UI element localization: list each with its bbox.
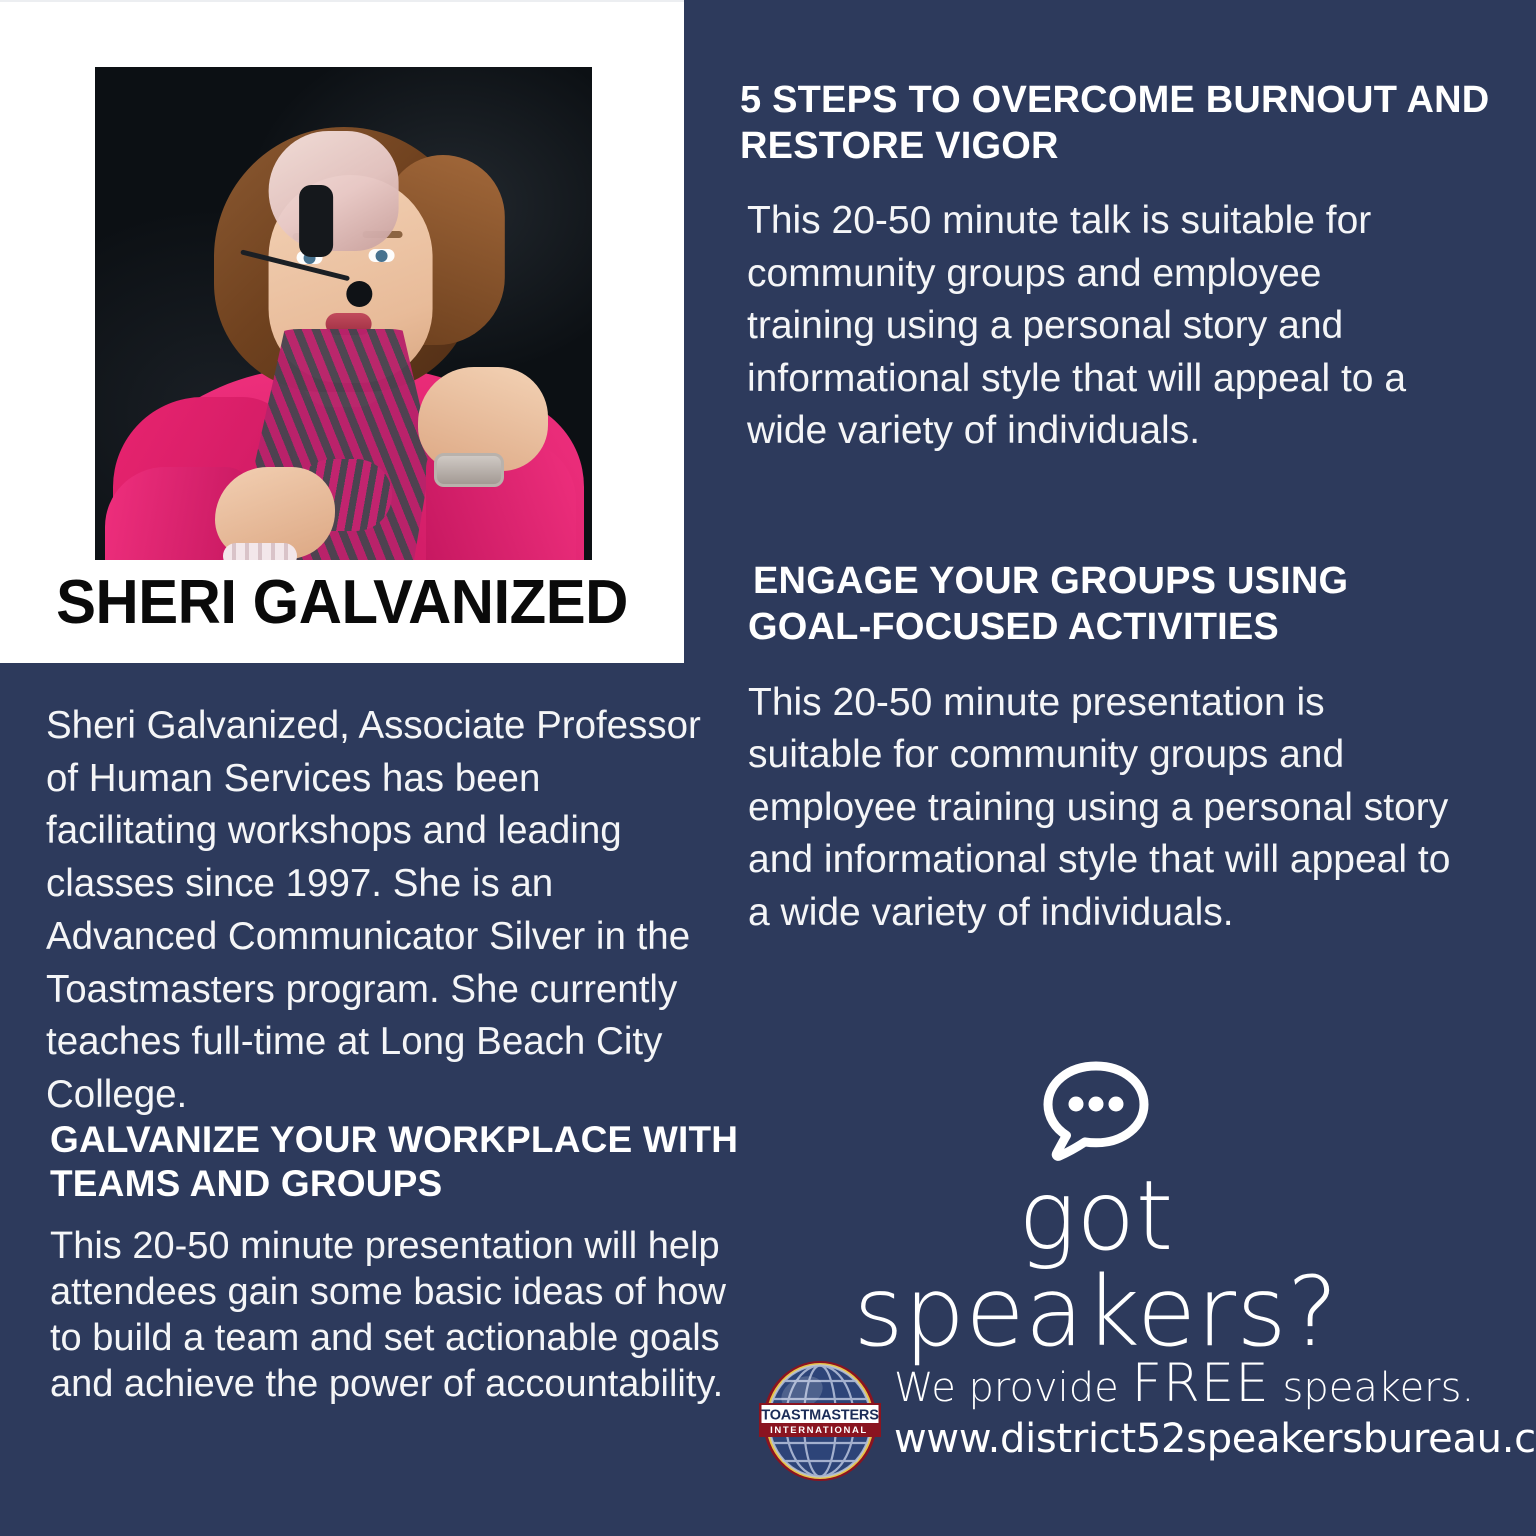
talk-burnout-title: 5 STEPS TO OVERCOME BURNOUT AND RESTORE … bbox=[740, 78, 1500, 169]
toastmasters-wordmark: TOASTMASTERS bbox=[761, 1408, 879, 1424]
footer-url[interactable]: www.district52speakersbureau.com bbox=[894, 1418, 1454, 1461]
got-speakers-wordmark: got speakers? bbox=[786, 1168, 1406, 1360]
photo-wristwatch bbox=[434, 453, 504, 487]
talk-burnout-block: 5 STEPS TO OVERCOME BURNOUT AND RESTORE … bbox=[740, 78, 1500, 457]
speaker-photo bbox=[95, 67, 592, 560]
toastmasters-banner: TOASTMASTERS INTERNATIONAL bbox=[759, 1403, 881, 1437]
photo-headset-earpiece bbox=[299, 185, 333, 257]
talk-engage-groups-title: ENGAGE YOUR GROUPS USING GOAL-FOCUSED AC… bbox=[748, 558, 1508, 651]
toastmasters-logo-icon: TOASTMASTERS INTERNATIONAL bbox=[758, 1359, 882, 1483]
talk-galvanize-workplace-block: GALVANIZE YOUR WORKPLACE WITH TEAMS AND … bbox=[50, 1118, 750, 1407]
footer-text-lines: We provide FREE speakers. www.district52… bbox=[894, 1355, 1454, 1461]
talk-engage-groups-title-line2: GOAL-FOCUSED ACTIVITIES bbox=[748, 606, 1279, 648]
toastmasters-international-word: INTERNATIONAL bbox=[770, 1425, 868, 1436]
talk-galvanize-workplace-title: GALVANIZE YOUR WORKPLACE WITH TEAMS AND … bbox=[50, 1118, 750, 1207]
photo-microphone bbox=[346, 281, 372, 307]
speaker-flyer: { "colors": { "background_navy": "#2D3A5… bbox=[0, 0, 1536, 1536]
talk-galvanize-workplace-description: This 20-50 minute presentation will help… bbox=[50, 1223, 750, 1408]
footer-tagline-post: speakers. bbox=[1282, 1365, 1474, 1411]
photo-hair-highlight bbox=[268, 131, 398, 251]
talk-burnout-description: This 20-50 minute talk is suitable for c… bbox=[747, 195, 1447, 457]
photo-eye-right bbox=[368, 249, 394, 262]
footer-tagline-free: FREE bbox=[1131, 1353, 1269, 1414]
photo-bracelet bbox=[223, 543, 297, 560]
photo-iris-right bbox=[375, 250, 387, 262]
got-speakers-logo: got speakers? bbox=[786, 1060, 1406, 1360]
speech-bubble-icon bbox=[1040, 1060, 1152, 1164]
speaker-card: SHERI GALVANIZED bbox=[0, 0, 684, 663]
speaker-bio-block: Sheri Galvanized, Associate Professor of… bbox=[46, 700, 706, 1122]
talk-engage-groups-description: This 20-50 minute presentation is suitab… bbox=[748, 677, 1468, 939]
talk-engage-groups-block: ENGAGE YOUR GROUPS USING GOAL-FOCUSED AC… bbox=[748, 558, 1508, 939]
talk-engage-groups-title-line1: ENGAGE YOUR GROUPS USING bbox=[753, 558, 1508, 604]
speaker-name: SHERI GALVANIZED bbox=[12, 572, 672, 634]
footer-tagline-pre: We provide bbox=[894, 1365, 1119, 1411]
speaker-bio-text: Sheri Galvanized, Associate Professor of… bbox=[46, 700, 706, 1122]
footer-tagline: We provide FREE speakers. bbox=[894, 1355, 1454, 1412]
footer-branding: TOASTMASTERS INTERNATIONAL We provide FR… bbox=[758, 1355, 1458, 1495]
